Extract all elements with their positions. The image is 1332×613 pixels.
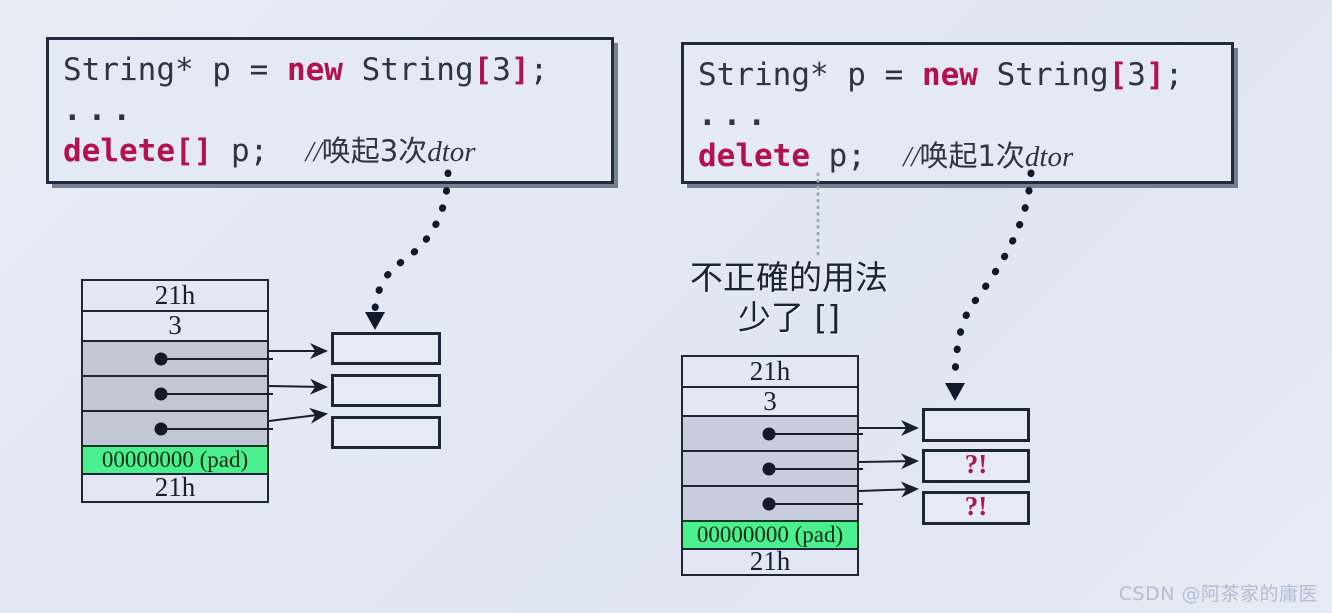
right-code-line1-bracket-open: [	[1109, 57, 1128, 93]
left-mem-row-1-label: 3	[83, 312, 267, 339]
right-code-line-1: String* p = new String[3];	[698, 55, 1217, 95]
right-mem-row-5-label: 00000000 (pad)	[683, 523, 857, 546]
right-memory-block: 21h 3 00000000 (pad) 21h	[681, 355, 859, 576]
right-code-line3-comment: //唤起1次dtor	[903, 141, 1073, 173]
right-code-line1-pre: String* p =	[698, 57, 922, 93]
right-connector-arrows	[859, 428, 916, 491]
right-pointer-stub-2	[769, 503, 863, 505]
left-mem-row-6-label: 21h	[83, 474, 267, 501]
right-pointer-stub-0	[769, 433, 863, 435]
left-mem-row-5-pad: 00000000 (pad)	[81, 445, 269, 473]
slide-canvas: String* p = new String[3]; ... delete[] …	[0, 0, 1332, 613]
right-mem-row-5-pad: 00000000 (pad)	[681, 520, 859, 548]
left-code-line1-keyword: new	[287, 52, 343, 88]
left-code-line1-pre: String* p =	[63, 52, 287, 88]
left-code-line3-comment: //唤起3次dtor	[306, 136, 476, 168]
left-code-line-2: ...	[63, 90, 597, 130]
right-code-box: String* p = new String[3]; ... delete p;…	[681, 42, 1234, 184]
left-pointer-stub-1	[161, 393, 273, 395]
left-code-line-1: String* p = new String[3];	[63, 50, 597, 90]
right-comment-prefix: //	[903, 141, 919, 173]
right-code-line3-keyword: delete	[698, 138, 810, 174]
left-code-line3-rest: p;	[212, 133, 305, 169]
left-comment-cn: 唤起3次	[322, 134, 427, 168]
left-mem-row-6: 21h	[81, 473, 269, 503]
annotation-line-2: 少了 []	[658, 298, 920, 338]
left-code-line3-keyword: delete[]	[63, 133, 212, 169]
left-comment-prefix: //	[306, 136, 322, 168]
left-code-line1-bracket-close: ]	[511, 52, 530, 88]
right-pointer-stub-1	[769, 468, 863, 470]
right-mem-row-1-label: 3	[683, 387, 857, 414]
left-dotted-pointer-curve	[365, 173, 448, 330]
right-mem-row-3	[681, 450, 859, 485]
left-mem-row-0-label: 21h	[83, 281, 267, 308]
left-code-line1-tail: ;	[530, 52, 549, 88]
left-code-box: String* p = new String[3]; ... delete[] …	[46, 37, 614, 184]
left-target-cell-1	[331, 374, 441, 407]
left-mem-row-3	[81, 375, 269, 410]
right-target-cell-1-label: ?!	[925, 451, 1027, 478]
left-mem-row-4	[81, 410, 269, 445]
right-target-cell-1: ?!	[922, 449, 1030, 483]
right-target-cell-2: ?!	[922, 491, 1030, 525]
left-mem-row-0: 21h	[81, 279, 269, 310]
right-target-cell-0	[922, 408, 1030, 442]
left-pointer-stub-0	[161, 358, 273, 360]
left-code-line1-bracket-open: [	[474, 52, 493, 88]
right-mem-row-6: 21h	[681, 548, 859, 576]
right-code-line1-tail: ;	[1165, 57, 1184, 93]
right-dotted-pointer-curve	[945, 173, 1031, 401]
right-comment-suffix: dtor	[1025, 141, 1073, 173]
right-code-line-2: ...	[698, 95, 1217, 135]
left-code-line1-count: 3	[492, 52, 511, 88]
left-code-line-3: delete[] p; //唤起3次dtor	[63, 131, 597, 172]
right-mem-row-0: 21h	[681, 355, 859, 386]
right-code-line1-count: 3	[1127, 57, 1146, 93]
right-code-line1-bracket-close: ]	[1146, 57, 1165, 93]
left-target-cell-2	[331, 416, 441, 449]
left-code-line1-mid: String	[343, 52, 474, 88]
left-target-cell-0	[331, 332, 441, 365]
left-pointer-stub-2	[161, 428, 273, 430]
left-comment-suffix: dtor	[427, 136, 475, 168]
left-mem-row-1: 3	[81, 310, 269, 340]
right-mem-row-2	[681, 415, 859, 450]
right-code-line1-mid: String	[978, 57, 1109, 93]
annotation-line-1: 不正確的用法	[658, 258, 920, 298]
right-target-cell-2-label: ?!	[925, 493, 1027, 520]
right-mem-row-1: 3	[681, 386, 859, 415]
right-mem-row-6-label: 21h	[683, 548, 857, 575]
right-code-line-3: delete p; //唤起1次dtor	[698, 136, 1217, 177]
right-code-line3-rest: p;	[810, 138, 903, 174]
right-code-line1-keyword: new	[922, 57, 978, 93]
left-connector-arrows	[269, 351, 325, 421]
left-mem-row-2	[81, 340, 269, 375]
incorrect-usage-annotation: 不正確的用法 少了 []	[658, 258, 920, 339]
right-mem-row-0-label: 21h	[683, 357, 857, 384]
csdn-watermark: CSDN @阿茶家的庸医	[1119, 579, 1318, 606]
left-mem-row-5-label: 00000000 (pad)	[83, 448, 267, 471]
left-memory-block: 21h 3 00000000 (pad) 21h	[81, 279, 269, 503]
right-comment-cn: 唤起1次	[919, 139, 1024, 173]
right-mem-row-4	[681, 485, 859, 520]
